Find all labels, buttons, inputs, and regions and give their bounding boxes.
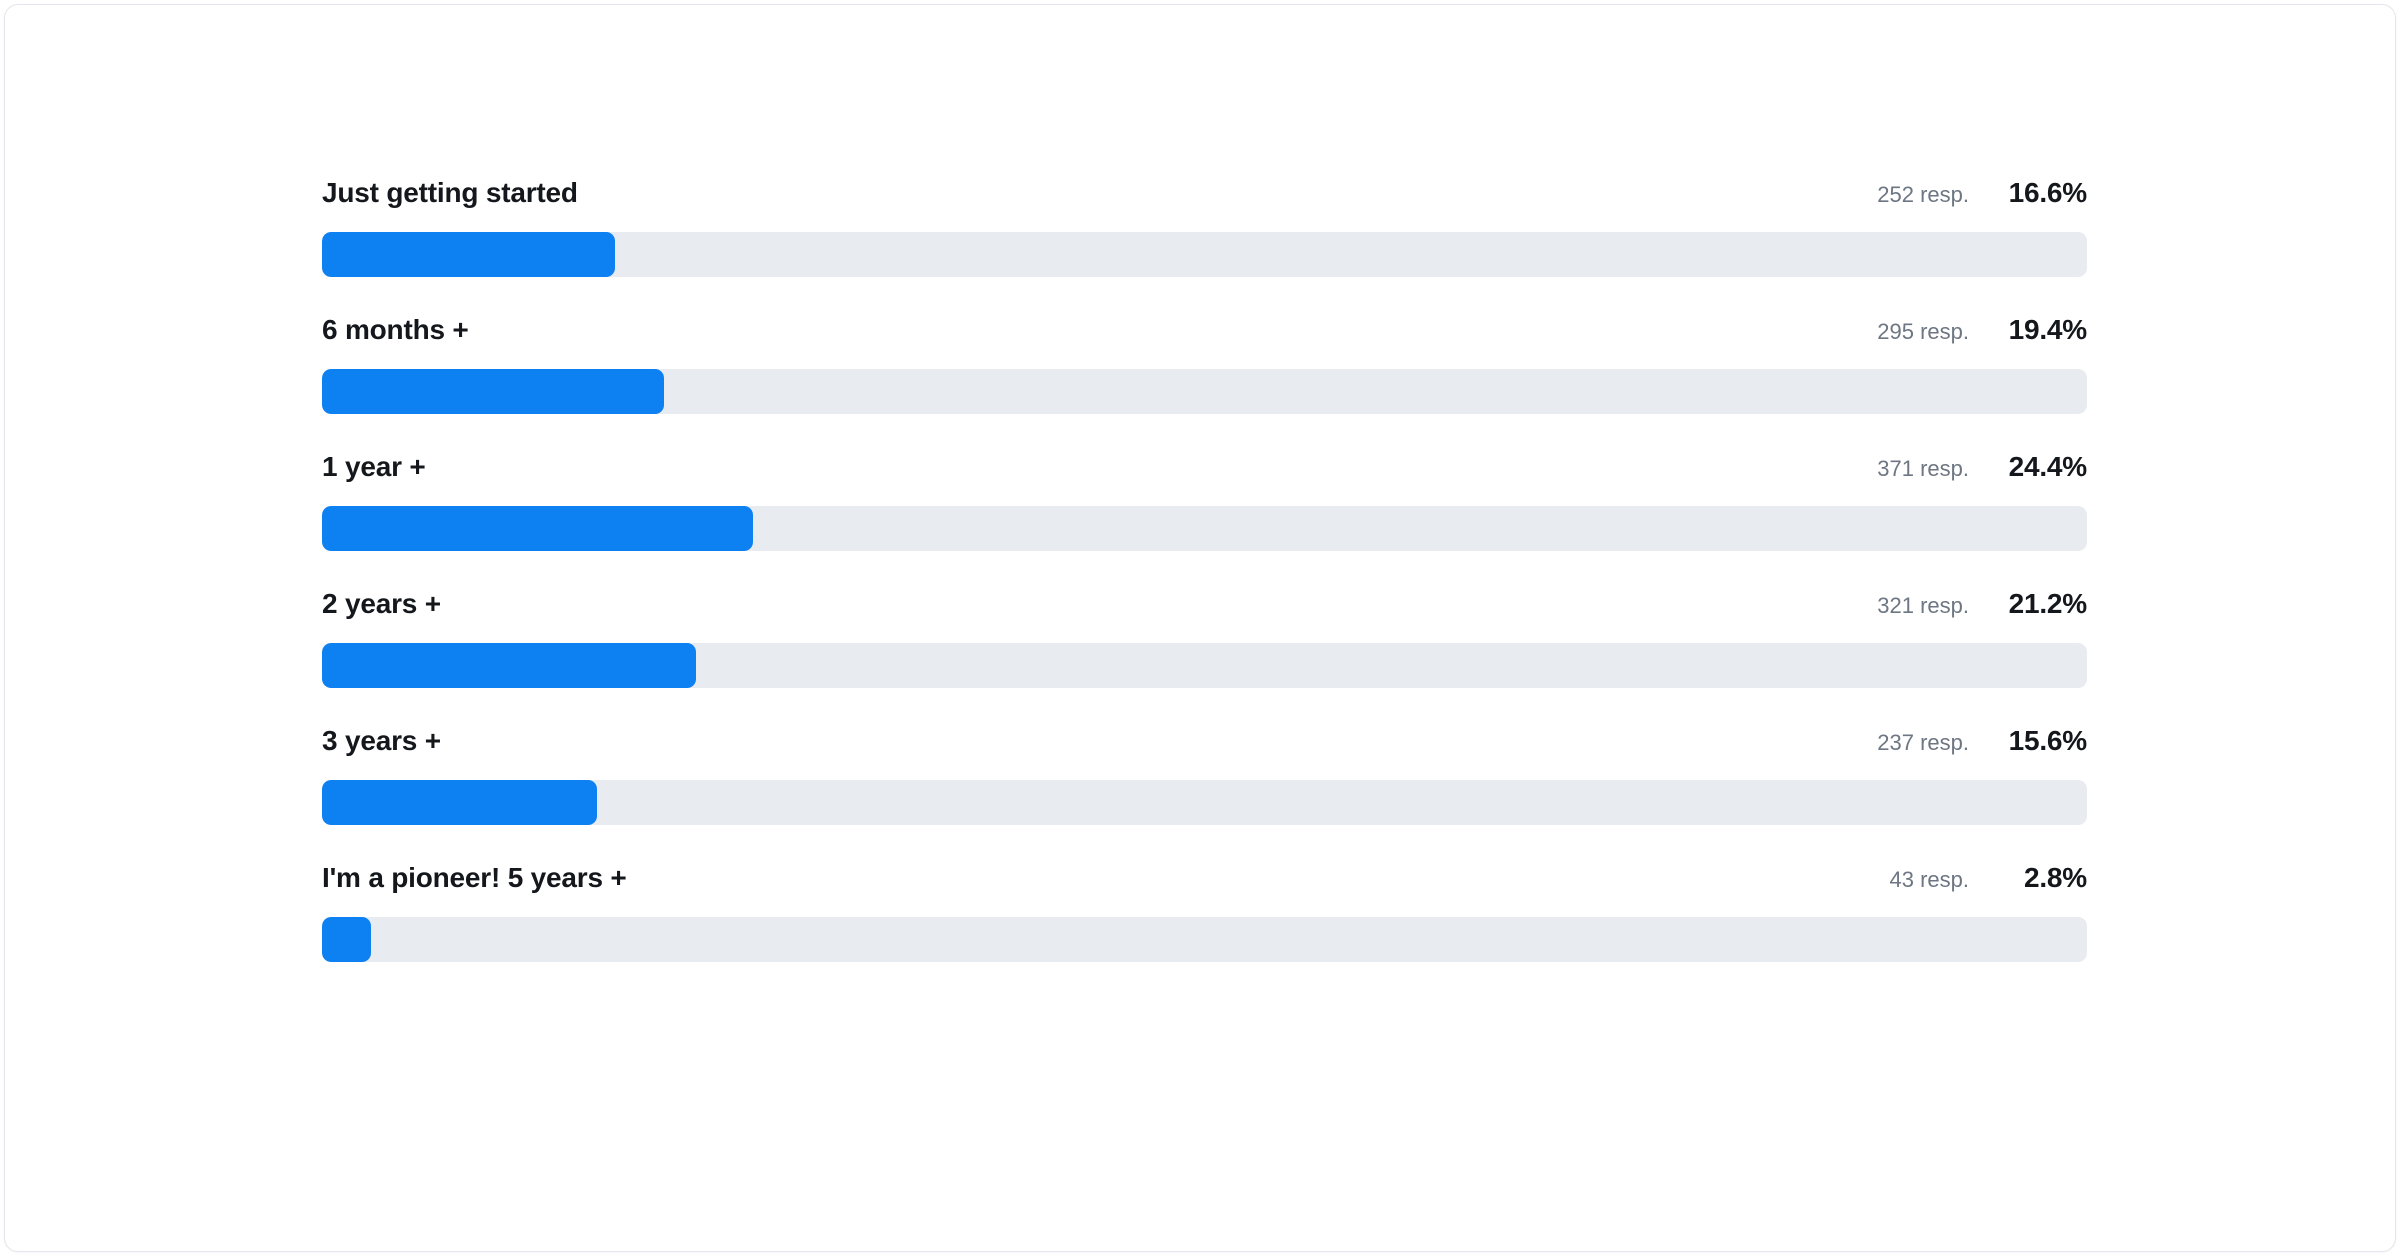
survey-bar-fill bbox=[322, 780, 597, 825]
survey-bar-fill bbox=[322, 232, 615, 277]
survey-option-label: 2 years + bbox=[322, 588, 441, 620]
survey-result-metrics: 321 resp. 21.2% bbox=[1877, 588, 2087, 620]
survey-result-row-header: Just getting started 252 resp. 16.6% bbox=[322, 177, 2087, 221]
survey-percentage-value: 19.4% bbox=[1969, 314, 2087, 346]
survey-bar-fill bbox=[322, 643, 696, 688]
survey-percentage-value: 15.6% bbox=[1969, 725, 2087, 757]
survey-option-label: Just getting started bbox=[322, 177, 578, 209]
survey-result-row-4: 3 years + 237 resp. 15.6% bbox=[322, 725, 2087, 825]
survey-result-metrics: 295 resp. 19.4% bbox=[1877, 314, 2087, 346]
survey-result-row-header: I'm a pioneer! 5 years + 43 resp. 2.8% bbox=[322, 862, 2087, 906]
survey-option-label: 3 years + bbox=[322, 725, 441, 757]
survey-response-count: 237 resp. bbox=[1877, 730, 1969, 756]
survey-result-row-header: 3 years + 237 resp. 15.6% bbox=[322, 725, 2087, 769]
survey-bar-fill bbox=[322, 506, 753, 551]
survey-result-row-1: 6 months + 295 resp. 19.4% bbox=[322, 314, 2087, 414]
survey-result-row-header: 2 years + 321 resp. 21.2% bbox=[322, 588, 2087, 632]
survey-percentage-value: 16.6% bbox=[1969, 177, 2087, 209]
survey-option-label: I'm a pioneer! 5 years + bbox=[322, 862, 627, 894]
survey-results-card: Just getting started 252 resp. 16.6% 6 m… bbox=[4, 4, 2396, 1252]
survey-result-metrics: 371 resp. 24.4% bbox=[1877, 451, 2087, 483]
survey-bar-track bbox=[322, 917, 2087, 962]
survey-result-row-0: Just getting started 252 resp. 16.6% bbox=[322, 177, 2087, 277]
survey-bar-track bbox=[322, 643, 2087, 688]
survey-response-count: 371 resp. bbox=[1877, 456, 1969, 482]
survey-percentage-value: 24.4% bbox=[1969, 451, 2087, 483]
survey-response-count: 295 resp. bbox=[1877, 319, 1969, 345]
survey-response-count: 43 resp. bbox=[1890, 867, 1970, 893]
survey-option-label: 1 year + bbox=[322, 451, 426, 483]
survey-result-row-header: 6 months + 295 resp. 19.4% bbox=[322, 314, 2087, 358]
survey-bar-fill bbox=[322, 917, 371, 962]
survey-percentage-value: 21.2% bbox=[1969, 588, 2087, 620]
survey-option-label: 6 months + bbox=[322, 314, 469, 346]
survey-bar-track bbox=[322, 780, 2087, 825]
survey-bar-track bbox=[322, 506, 2087, 551]
survey-bar-track bbox=[322, 369, 2087, 414]
survey-results-list: Just getting started 252 resp. 16.6% 6 m… bbox=[322, 177, 2087, 962]
survey-bar-fill bbox=[322, 369, 664, 414]
survey-result-metrics: 237 resp. 15.6% bbox=[1877, 725, 2087, 757]
survey-response-count: 321 resp. bbox=[1877, 593, 1969, 619]
survey-response-count: 252 resp. bbox=[1877, 182, 1969, 208]
survey-result-row-3: 2 years + 321 resp. 21.2% bbox=[322, 588, 2087, 688]
survey-percentage-value: 2.8% bbox=[1969, 862, 2087, 894]
survey-bar-track bbox=[322, 232, 2087, 277]
survey-result-row-5: I'm a pioneer! 5 years + 43 resp. 2.8% bbox=[322, 862, 2087, 962]
survey-result-row-header: 1 year + 371 resp. 24.4% bbox=[322, 451, 2087, 495]
survey-result-metrics: 43 resp. 2.8% bbox=[1890, 862, 2088, 894]
survey-result-metrics: 252 resp. 16.6% bbox=[1877, 177, 2087, 209]
survey-result-row-2: 1 year + 371 resp. 24.4% bbox=[322, 451, 2087, 551]
